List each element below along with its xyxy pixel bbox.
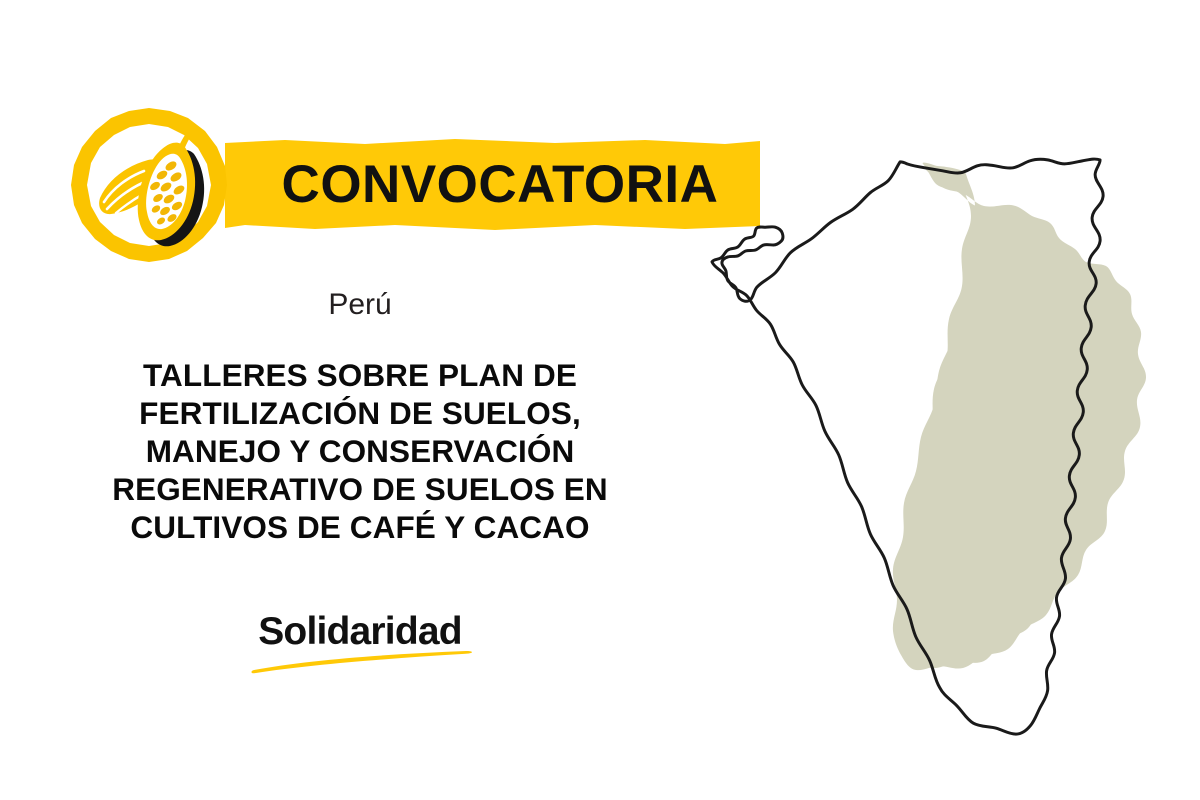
banner-row: CONVOCATORIA (60, 100, 710, 270)
page-title: TALLERES SOBRE PLAN DE FERTILIZACIÓN DE … (50, 356, 670, 546)
logo-inner: Solidaridad (240, 608, 480, 680)
logo-swoosh-icon (238, 648, 482, 674)
headline-line-2: FERTILIZACIÓN DE SUELOS, (50, 394, 670, 432)
country-label: Perú (60, 288, 660, 321)
poster-canvas: CONVOCATORIA (0, 0, 1200, 800)
solidaridad-logo: Solidaridad (60, 608, 660, 680)
banner-title: CONVOCATORIA (240, 138, 760, 230)
headline-line-4: REGENERATIVO DE SUELOS EN (50, 470, 670, 508)
cacao-pod-icon (66, 102, 232, 268)
headline-line-5: CULTIVOS DE CAFÉ Y CACAO (50, 508, 670, 546)
left-content-column: CONVOCATORIA (0, 0, 720, 800)
peru-map (700, 130, 1160, 750)
headline-line-3: MANEJO Y CONSERVACIÓN (50, 432, 670, 470)
headline-line-1: TALLERES SOBRE PLAN DE (50, 356, 670, 394)
